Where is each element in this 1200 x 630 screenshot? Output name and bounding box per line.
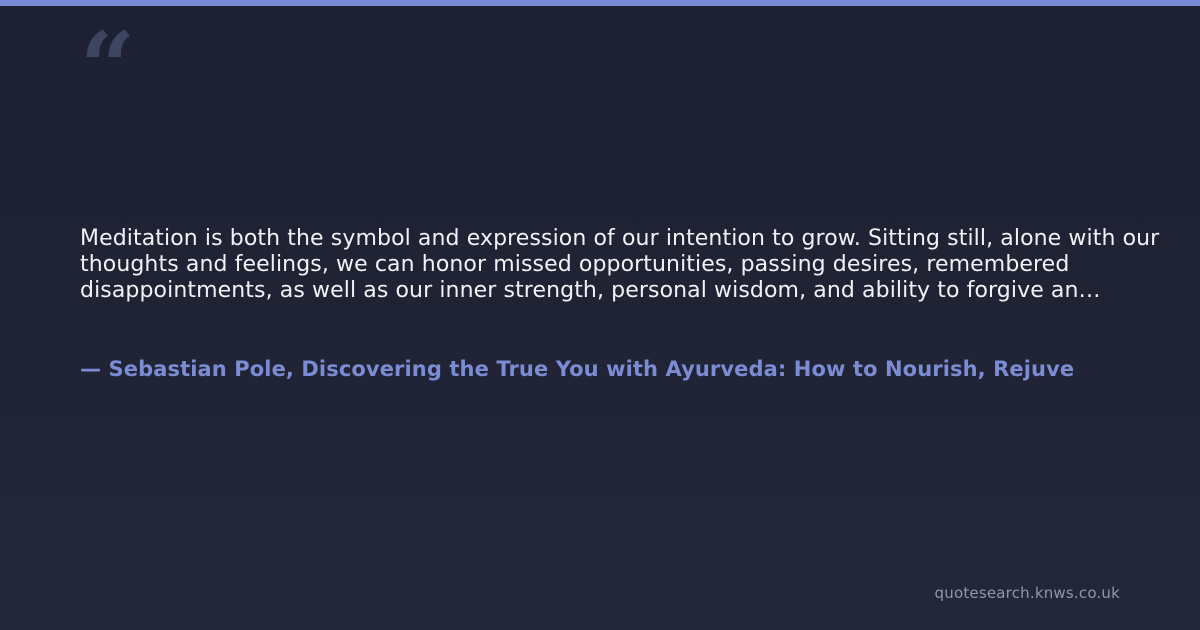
- quote-card: “ Meditation is both the symbol and expr…: [0, 0, 1200, 630]
- opening-quotation-mark-icon: “: [80, 20, 133, 116]
- quote-attribution: — Sebastian Pole, Discovering the True Y…: [80, 355, 1200, 383]
- source-url-label: quotesearch.knws.co.uk: [935, 583, 1120, 603]
- top-accent-bar: [0, 0, 1200, 6]
- quote-body: Meditation is both the symbol and expres…: [80, 226, 1170, 303]
- quote-text: Meditation is both the symbol and expres…: [80, 226, 1170, 303]
